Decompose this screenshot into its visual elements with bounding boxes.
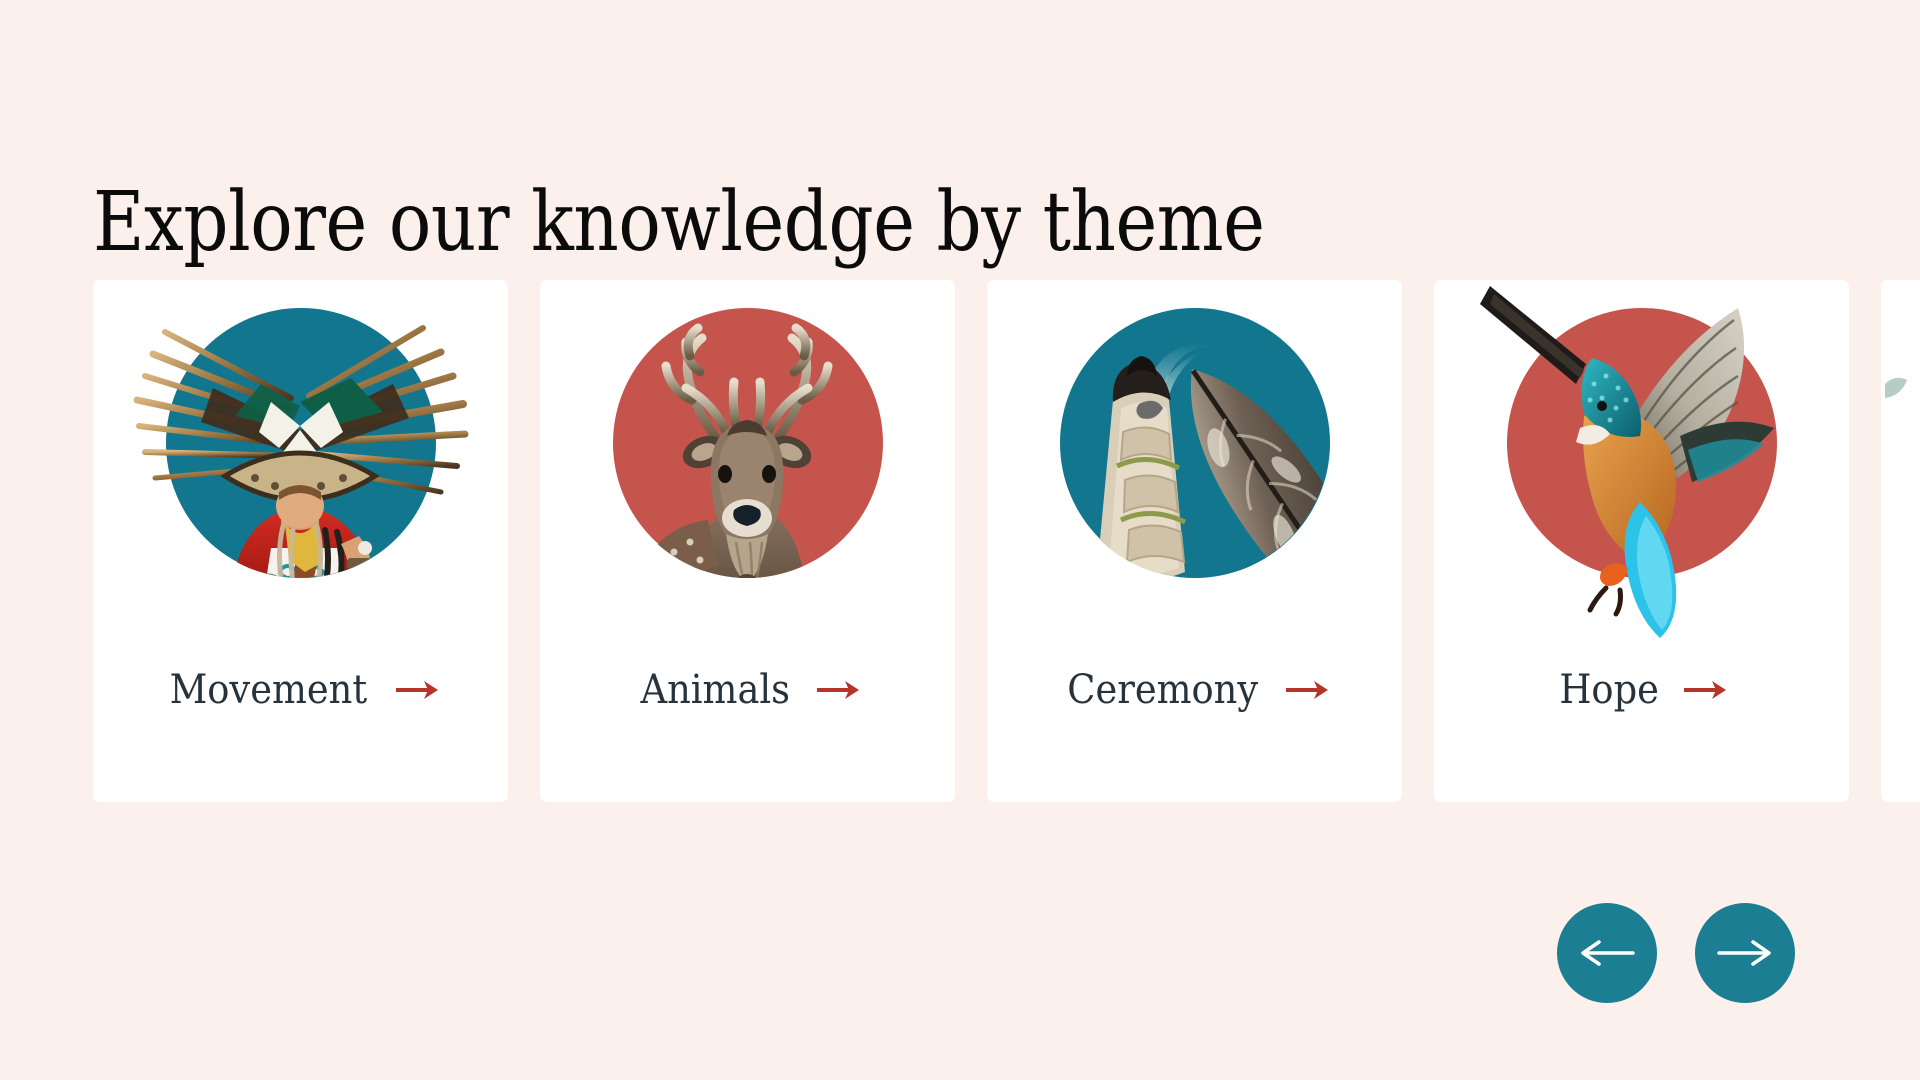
- theme-card-movement[interactable]: Movement: [93, 280, 508, 802]
- card-media: [1881, 280, 1920, 640]
- arrow-right-icon: [1284, 677, 1330, 703]
- card-label-row: Ceremony: [987, 667, 1402, 713]
- dancer-in-feathered-regalia-image: [93, 280, 508, 640]
- card-media: [1434, 280, 1849, 640]
- card-label: Animals: [641, 667, 791, 713]
- carousel-next-button[interactable]: [1695, 903, 1795, 1003]
- theme-card-next-partial[interactable]: [1881, 280, 1920, 802]
- arrow-right-icon: [1682, 677, 1728, 703]
- card-label: Hope: [1560, 667, 1660, 713]
- theme-carousel: Movement: [0, 280, 1920, 805]
- carousel-track[interactable]: Movement: [93, 280, 1920, 802]
- card-label: Ceremony: [1067, 667, 1258, 713]
- partial-next-card-image: [1881, 280, 1920, 640]
- card-label-row: Movement: [93, 667, 508, 713]
- carousel-previous-button[interactable]: [1557, 903, 1657, 1003]
- arrow-right-icon: [815, 677, 861, 703]
- card-media: [987, 280, 1402, 640]
- arrow-right-icon: [1717, 938, 1773, 968]
- page-title: Explore our knowledge by theme: [93, 180, 1265, 266]
- kingfisher-in-flight-image: [1434, 280, 1849, 640]
- card-media: [540, 280, 955, 640]
- card-label-row: Animals: [540, 667, 955, 713]
- theme-explorer-section: Explore our knowledge by theme: [0, 0, 1920, 1080]
- theme-card-animals[interactable]: Animals: [540, 280, 955, 802]
- arrow-left-icon: [1579, 938, 1635, 968]
- card-media: [93, 280, 508, 640]
- carousel-navigation: [1557, 903, 1795, 1003]
- card-label: Movement: [170, 667, 368, 713]
- arrow-right-icon: [394, 677, 440, 703]
- smudge-bundle-and-feather-image: [987, 280, 1402, 640]
- theme-card-hope[interactable]: Hope: [1434, 280, 1849, 802]
- card-label-row: Hope: [1434, 667, 1849, 713]
- theme-card-ceremony[interactable]: Ceremony: [987, 280, 1402, 802]
- stag-with-antlers-image: [540, 280, 955, 640]
